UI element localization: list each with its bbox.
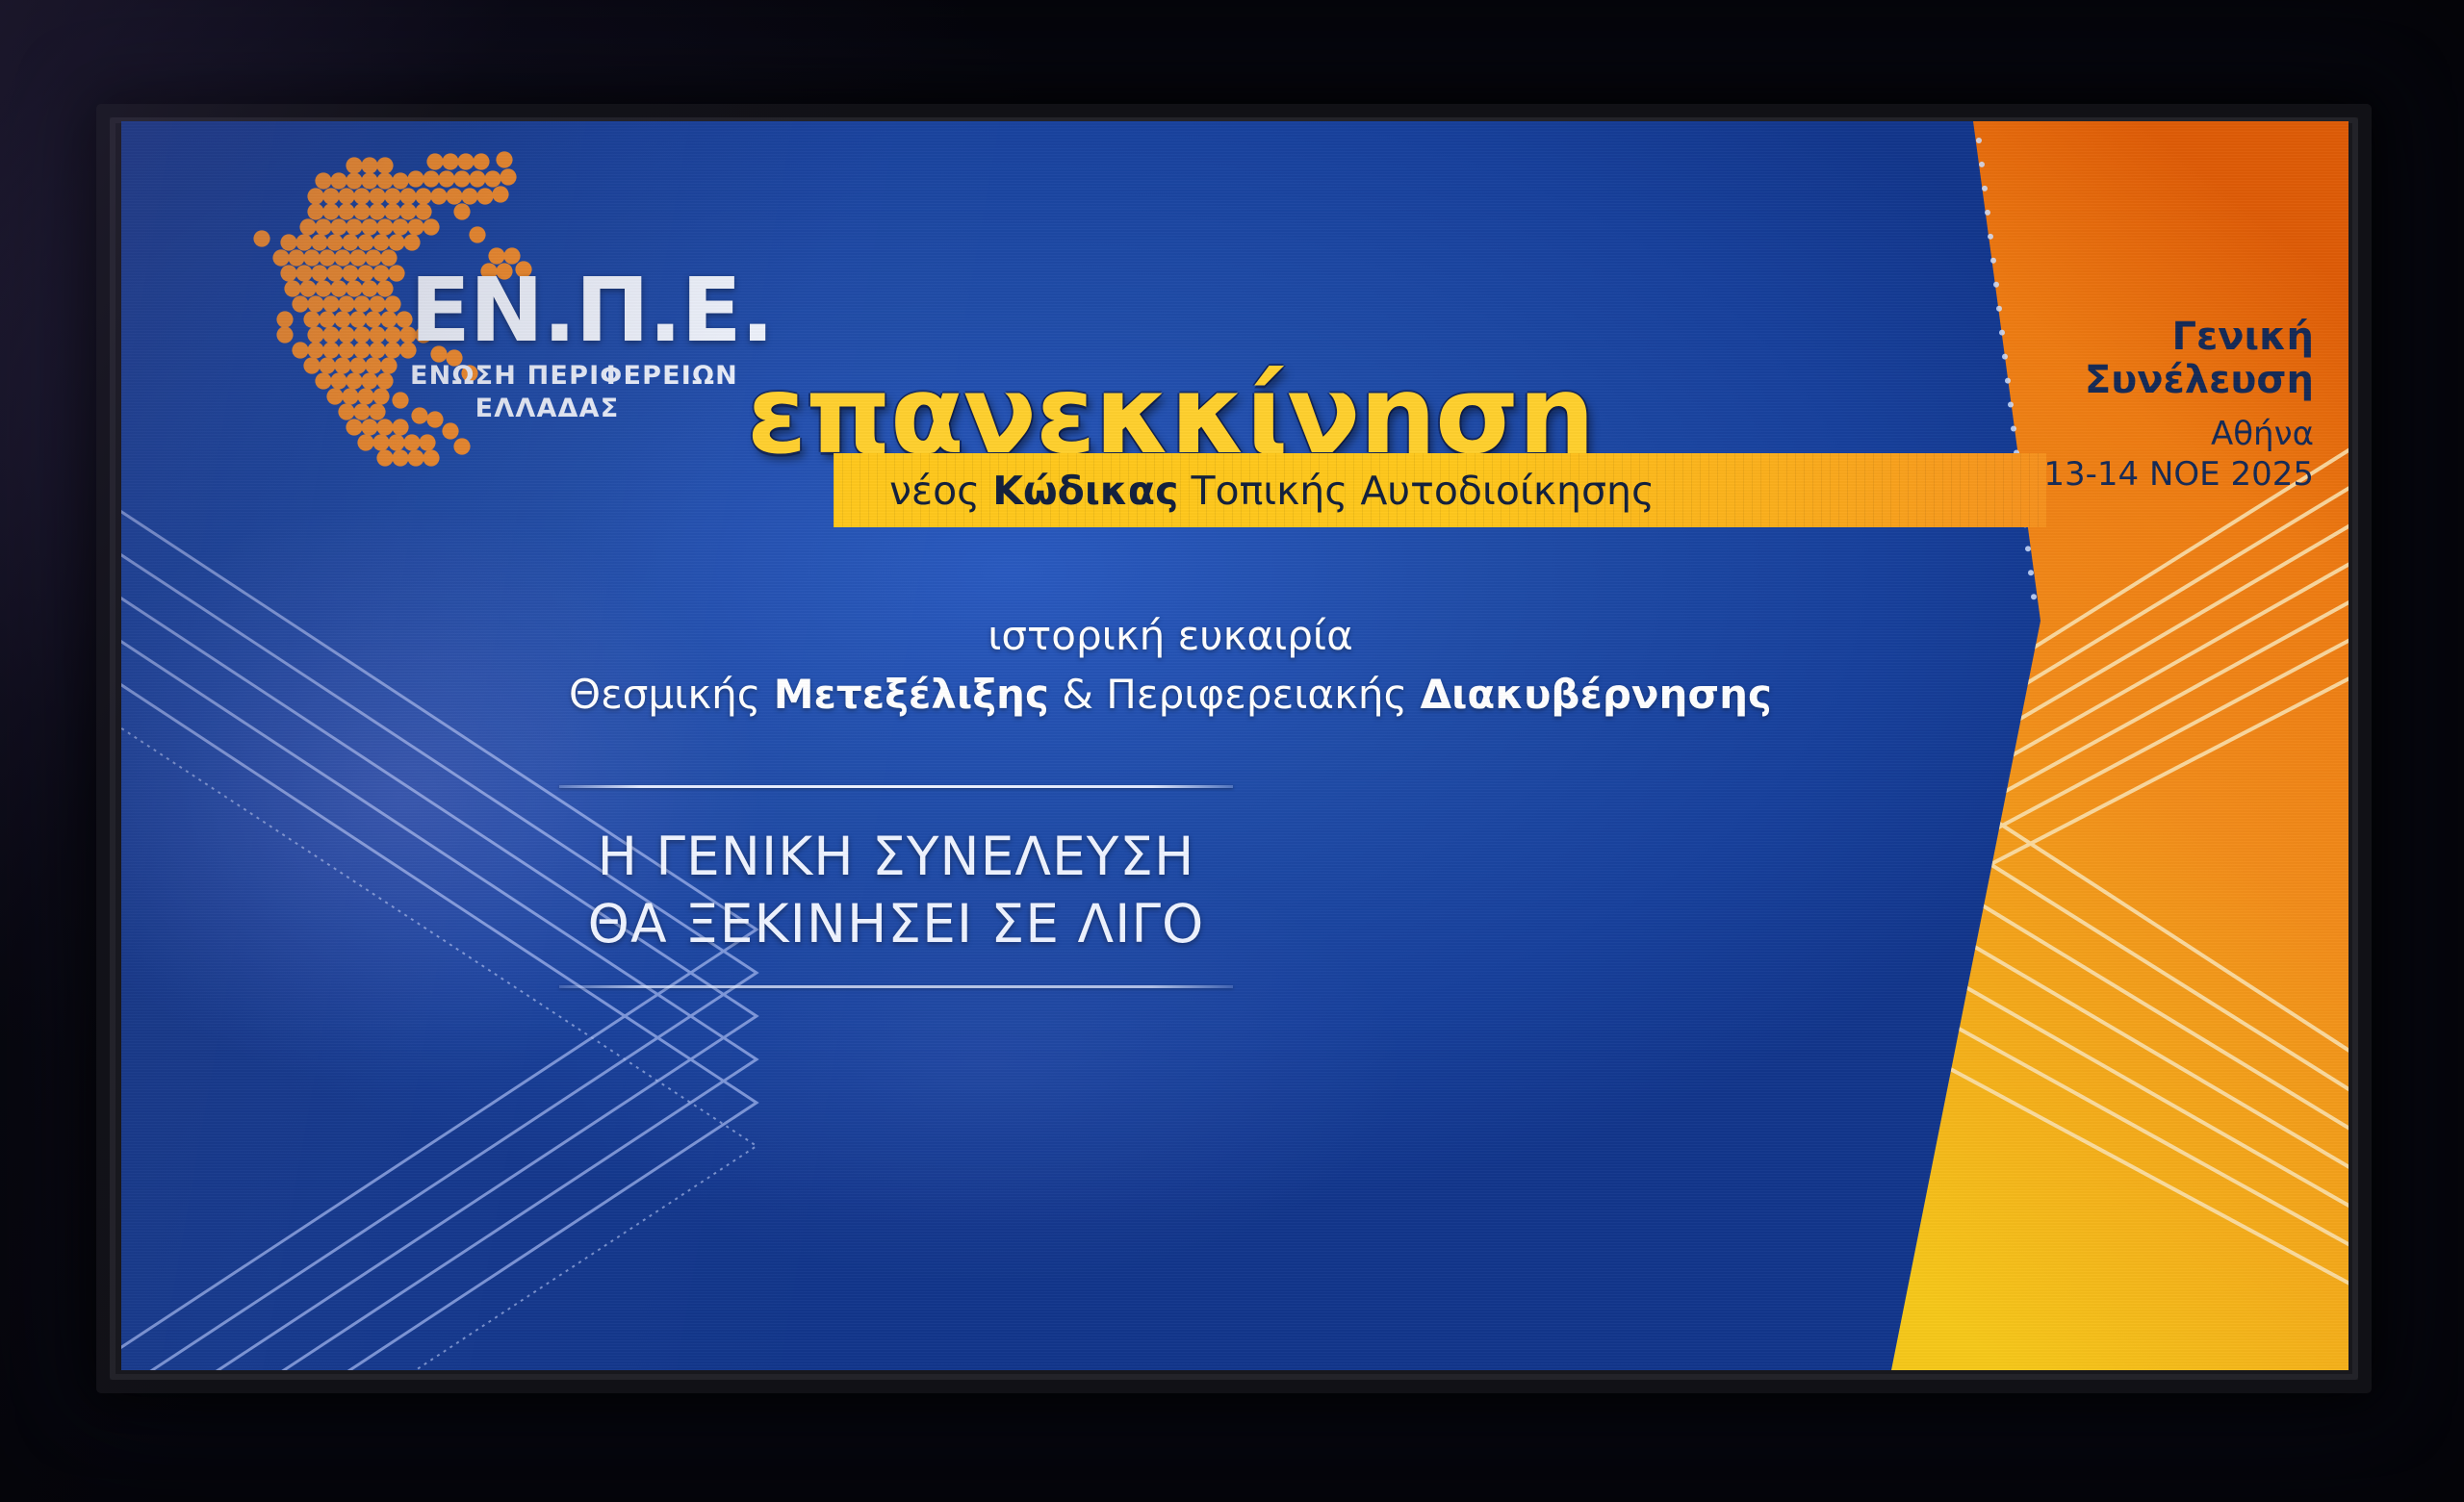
orange-panel-shape [1752, 121, 2348, 1370]
code-banner: νέος Κώδικας Τοπικής Αυτοδιοίκησης [834, 453, 2046, 527]
slide-main-content: επανεκκίνηση τώρα ιστορική ευκαιρία Θεσμ… [468, 362, 1873, 722]
starting-soon-notice: Η ΓΕΝΙΚΗ ΣΥΝΕΛΕΥΣΗ ΘΑ ΞΕΚΙΝΗΣΕΙ ΣΕ ΛΙΓΟ [559, 785, 1233, 988]
notice-line-2: ΘΑ ΞΕΚΙΝΗΣΕΙ ΣΕ ΛΙΓΟ [559, 890, 1233, 957]
event-city: Αθήνα [1871, 414, 2314, 455]
banner-bold: Κώδικας [992, 468, 1178, 514]
code-banner-text: νέος Κώδικας Τοπικής Αυτοδιοίκησης [834, 468, 1655, 514]
notice-divider-bottom [559, 985, 1233, 988]
logo-acronym: ΕΝ.Π.Ε. [410, 270, 757, 352]
event-title-line-1: Γενική [1871, 316, 2314, 359]
lead-line-2-a: Θεσμικής [569, 671, 774, 718]
banner-suffix: Τοπικής Αυτοδιοίκησης [1178, 468, 1655, 514]
lead-line-2-b: Μετεξέλιξης [774, 671, 1049, 718]
event-title-line-2: Συνέλευση [1871, 359, 2314, 402]
notice-spacer-bottom [559, 958, 1233, 985]
lead-line-2: Θεσμικής Μετεξέλιξης & Περιφερειακής Δια… [468, 668, 1873, 723]
lead-line-1: ιστορική ευκαιρία [468, 609, 1873, 664]
event-info-panel: Γενική Συνέλευση Αθήνα 13-14 ΝΟΕ 2025 [1752, 121, 2348, 1370]
notice-spacer-top [559, 788, 1233, 823]
dark-room-background: ΕΝ.Π.Ε. ΕΝΩΣΗ ΠΕΡΙΦΕΡΕΙΩΝ ΕΛΛΑΔΑΣ [0, 0, 2464, 1502]
lead-line-2-d: Διακυβέρνησης [1421, 671, 1772, 718]
notice-line-1: Η ΓΕΝΙΚΗ ΣΥΝΕΛΕΥΣΗ [559, 823, 1233, 890]
lead-line-2-c: & Περιφερειακής [1049, 671, 1421, 718]
banner-prefix: νέος [889, 468, 992, 514]
television: ΕΝ.Π.Ε. ΕΝΩΣΗ ΠΕΡΙΦΕΡΕΙΩΝ ΕΛΛΑΔΑΣ [96, 104, 2372, 1393]
tv-screen: ΕΝ.Π.Ε. ΕΝΩΣΗ ΠΕΡΙΦΕΡΕΙΩΝ ΕΛΛΑΔΑΣ [121, 121, 2348, 1370]
